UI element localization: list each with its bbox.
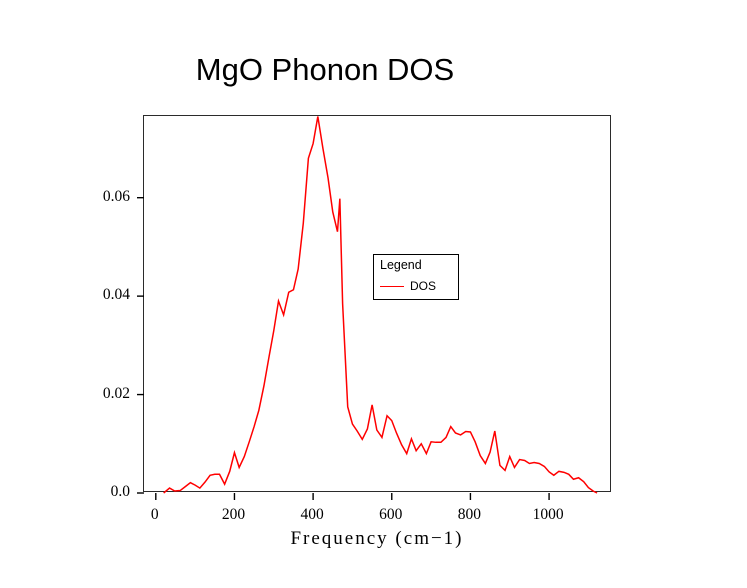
x-axis-label: Frequency (cm−1) [143, 528, 611, 550]
y-tick-label: 0.02 [62, 385, 130, 403]
plot-area [143, 115, 611, 492]
y-tick-label: 0.06 [62, 188, 130, 206]
x-tick-label: 1000 [533, 506, 564, 524]
chart-title: MgO Phonon DOS [0, 52, 650, 88]
y-tick-label: 0.04 [62, 286, 130, 304]
legend-title: Legend [380, 258, 422, 272]
x-tick-label: 800 [458, 506, 481, 524]
data-line-dos [164, 116, 597, 493]
legend-entry[interactable]: DOS [380, 279, 436, 293]
y-tick-label: 0.0 [62, 483, 130, 501]
data-series-group [164, 116, 597, 493]
plot-canvas [144, 116, 612, 493]
chart-figure: MgO Phonon DOS 0.00.020.040.06 020040060… [0, 0, 747, 588]
legend: Legend DOS [373, 254, 459, 300]
x-axis-tick-marks [156, 493, 549, 500]
x-tick-label: 0 [151, 506, 159, 524]
y-axis-tick-marks [137, 198, 144, 493]
x-tick-label: 600 [379, 506, 402, 524]
legend-entry-label: DOS [410, 279, 436, 293]
legend-line-swatch [380, 286, 404, 287]
x-tick-label: 200 [222, 506, 245, 524]
x-tick-label: 400 [300, 506, 323, 524]
